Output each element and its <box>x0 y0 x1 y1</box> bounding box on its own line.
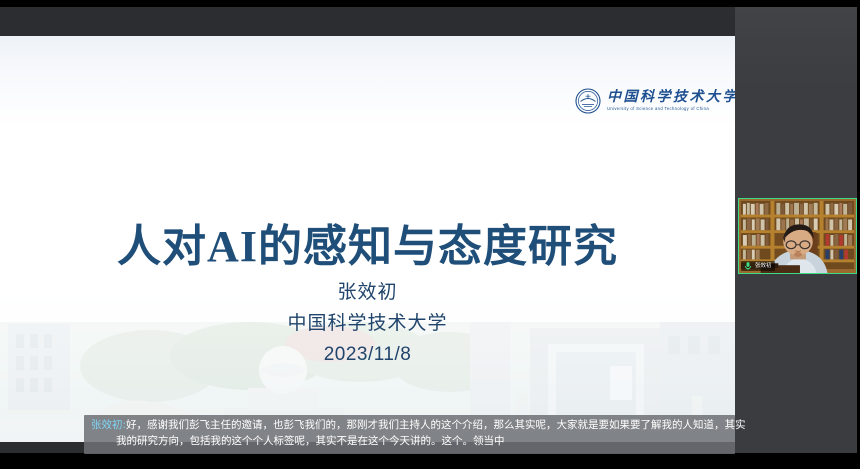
ustc-seal-icon <box>575 88 601 114</box>
ustc-logo: 中国科学技术大学 University of Science and Techn… <box>575 83 710 119</box>
caption-line-2: 我的研究方向，包括我的这个个人标签呢，其实不是在这个今天讲的。这个。领当中 <box>91 434 728 450</box>
ustc-logo-chinese: 中国科学技术大学 <box>607 90 735 105</box>
microphone-icon <box>743 261 753 271</box>
caption-line-1: 张效初:好，感谢我们彭飞主任的邀请，也彭飞我们的，那刚才我们主持人的这个介绍，那… <box>91 418 728 434</box>
live-caption-box[interactable]: 张效初:好，感谢我们彭飞主任的邀请，也彭飞我们的，那刚才我们主持人的这个介绍，那… <box>84 415 735 454</box>
participant-name-badge: 张效初 <box>741 261 775 271</box>
screen-share-stage: 中国科学技术大学 University of Science and Techn… <box>0 7 735 453</box>
slide-affiliation: 中国科学技术大学 <box>0 311 735 337</box>
ustc-logo-text: 中国科学技术大学 University of Science and Techn… <box>607 90 735 112</box>
participant-sidebar[interactable]: 张效初 <box>735 7 857 453</box>
ustc-logo-english: University of Science and Technology of … <box>607 105 735 112</box>
caption-speaker-label: 张效初: <box>91 419 126 431</box>
slide-title: 人对AI的感知与态度研究 <box>0 219 735 275</box>
slide-presenter: 张效初 <box>0 280 735 306</box>
presentation-slide[interactable]: 中国科学技术大学 University of Science and Techn… <box>0 36 735 442</box>
participant-video-tile[interactable]: 张效初 <box>738 198 857 274</box>
slide-date: 2023/11/8 <box>0 342 735 368</box>
participant-name: 张效初 <box>755 262 772 271</box>
window-bottom-bar <box>0 453 860 469</box>
window-top-bar <box>0 0 860 7</box>
caption-text-1: 好，感谢我们彭飞主任的邀请，也彭飞我们的，那刚才我们主持人的这个介绍，那么其实呢… <box>126 419 746 431</box>
conference-window: 中国科学技术大学 University of Science and Techn… <box>0 0 860 469</box>
